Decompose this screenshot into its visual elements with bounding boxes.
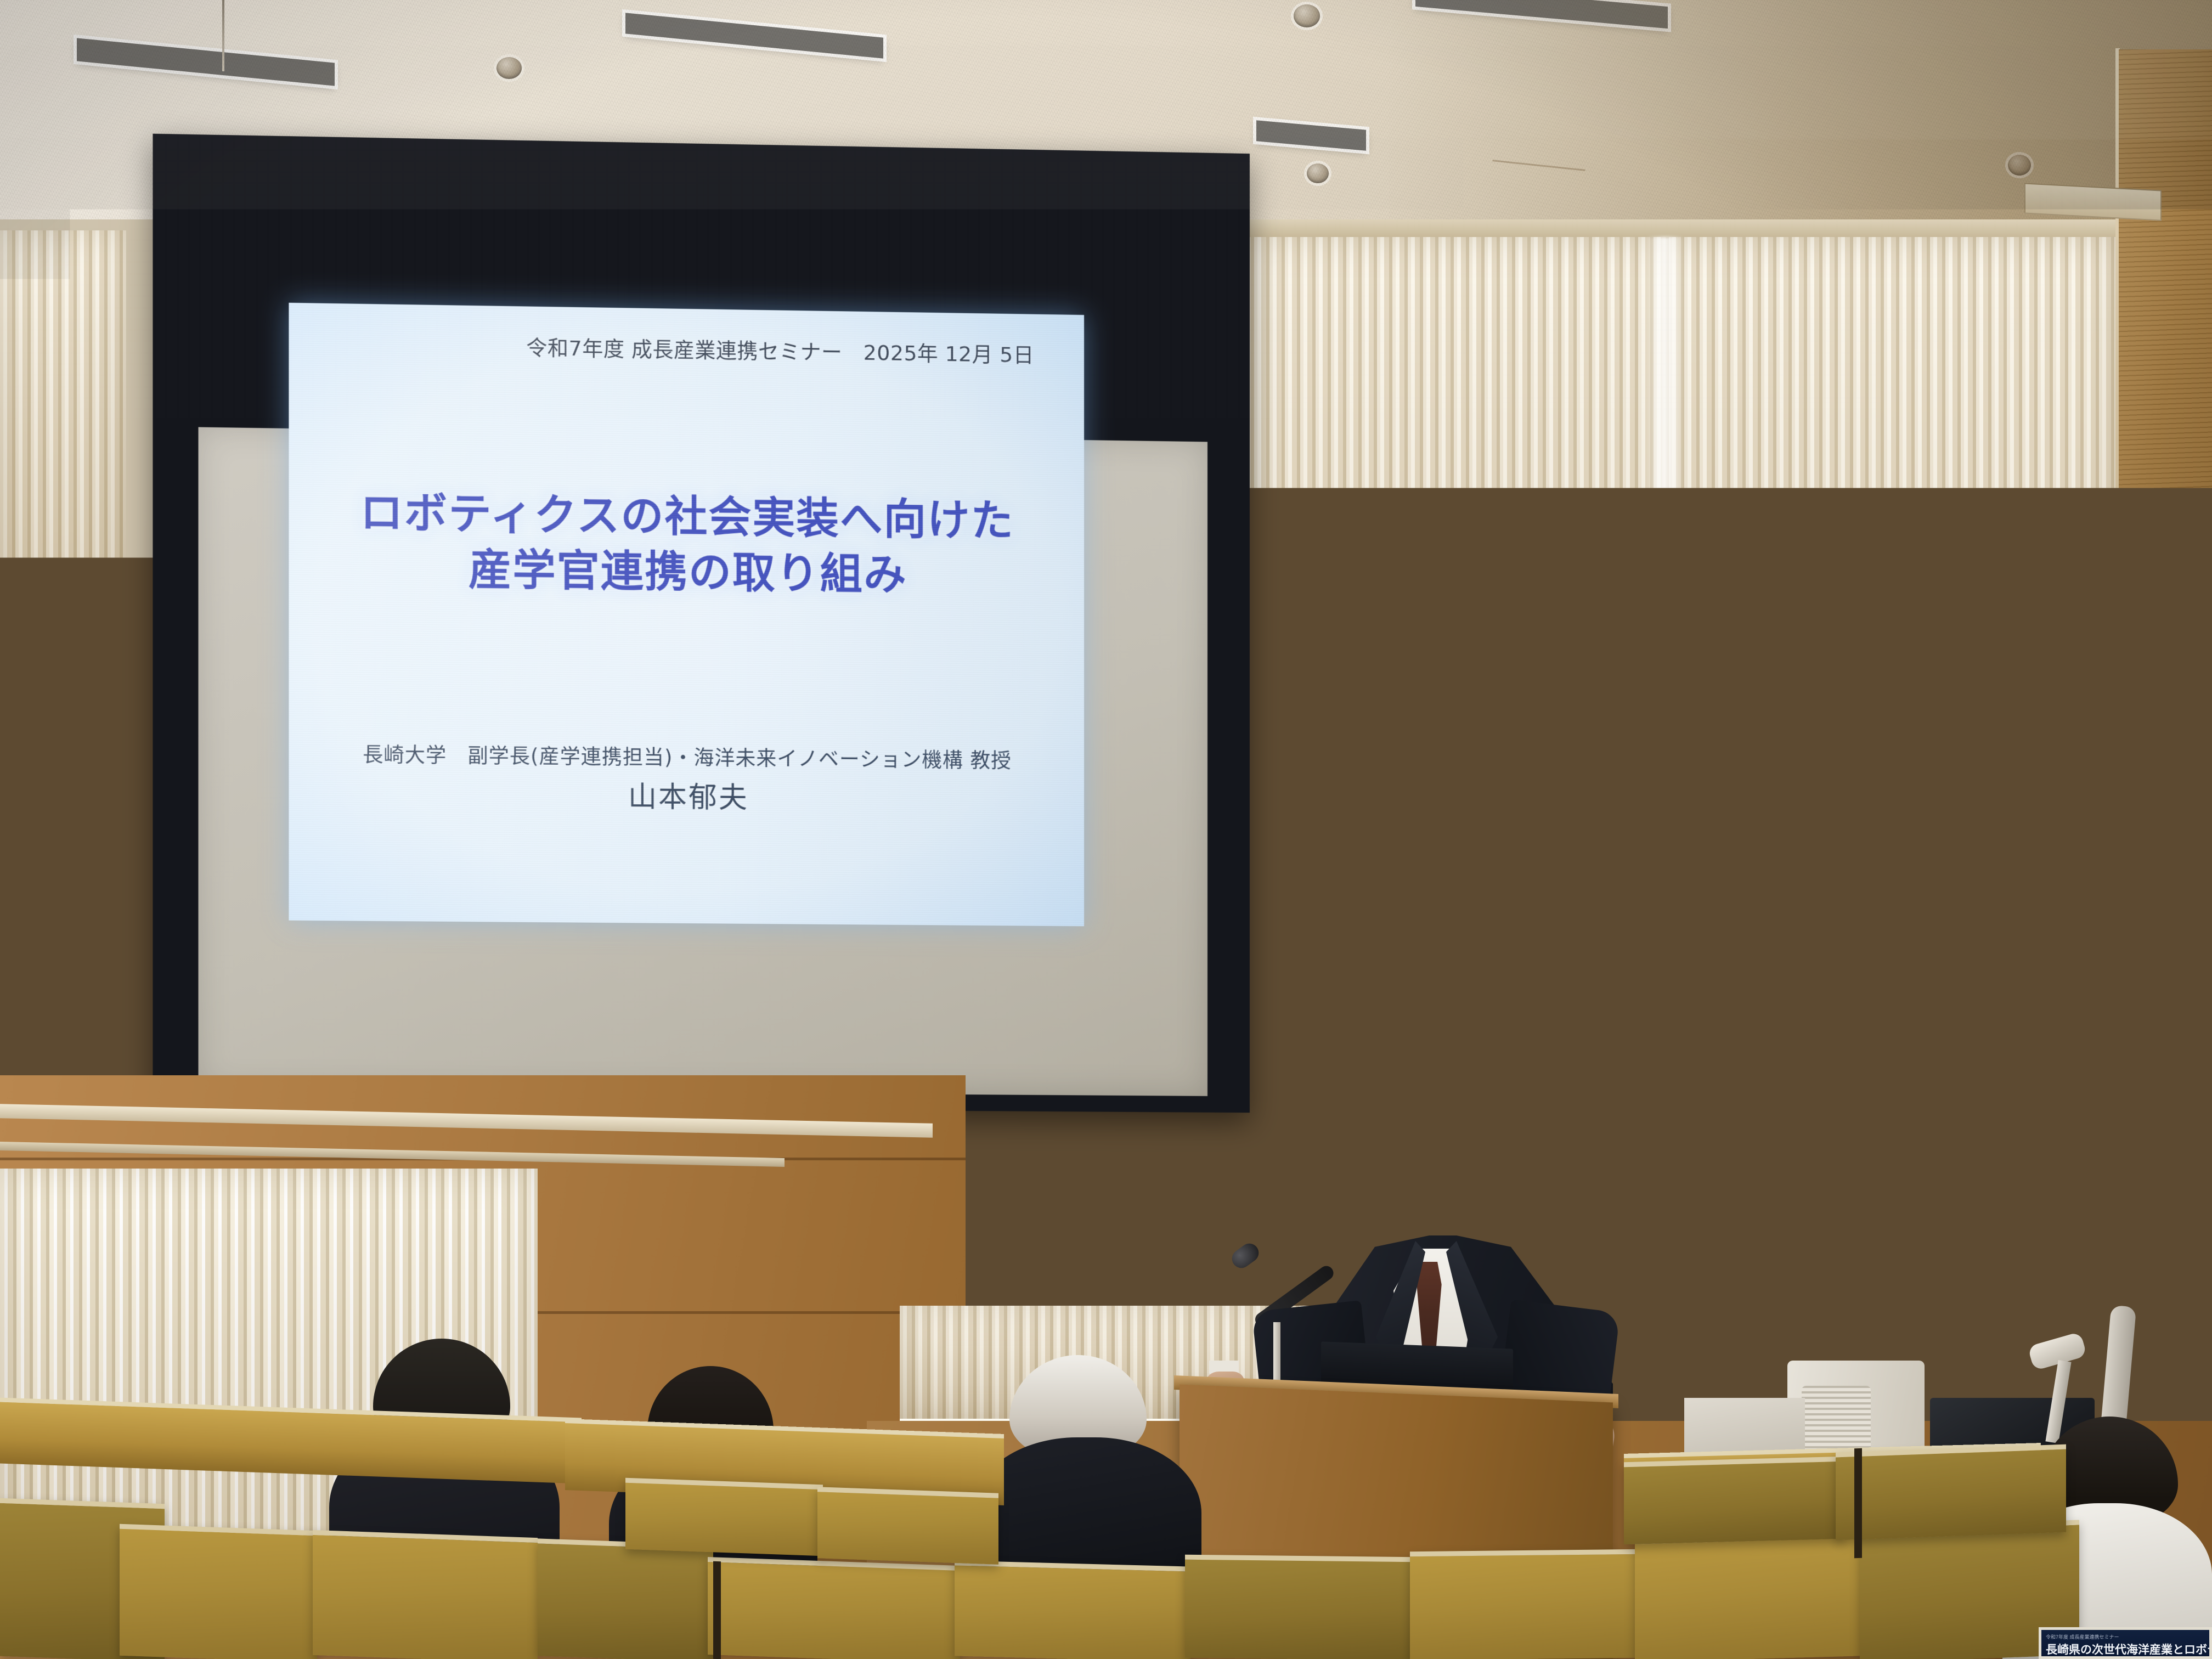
- ceiling-light-fixture: [1415, 0, 1668, 29]
- auditorium-seat[interactable]: [1410, 1549, 1640, 1659]
- auditorium-seat[interactable]: [538, 1538, 713, 1659]
- auditorium-seat[interactable]: [1635, 1533, 1865, 1659]
- poster-title: 長崎県の次世代海洋産業とロボティクス: [2046, 1641, 2207, 1657]
- glasses-icon: [1386, 1178, 1480, 1201]
- projected-slide: 令和7年度 成長産業連携セミナー 2025年 12月 5日 ロボティクスの社会実…: [289, 303, 1084, 926]
- auditorium-seat[interactable]: [817, 1487, 998, 1565]
- auditorium-seat[interactable]: [1836, 1444, 2066, 1541]
- ceiling-speaker-icon: [1294, 4, 1320, 27]
- auditorium-seat[interactable]: [1185, 1555, 1415, 1659]
- auditorium-seat[interactable]: [625, 1478, 823, 1556]
- auditorium-seat[interactable]: [955, 1560, 1190, 1659]
- ceiling-speaker-icon: [1307, 163, 1329, 183]
- slide-header-text: 令和7年度 成長産業連携セミナー 2025年 12月 5日: [289, 327, 1034, 368]
- ceiling-speaker-icon: [2008, 155, 2031, 176]
- poster-subtitle: 令和7年度 成長産業連携セミナー: [2046, 1633, 2207, 1640]
- slide-title: ロボティクスの社会実装へ向けた 産学官連携の取り組み: [289, 485, 1084, 606]
- seat-divider: [713, 1561, 721, 1659]
- hanging-wire: [222, 0, 224, 71]
- lecture-hall-photo: 令和7年度 成長産業連携セミナー 2025年 12月 5日 ロボティクスの社会実…: [0, 0, 2212, 1659]
- window-light-glow: [1646, 237, 1684, 1082]
- hanging-wire: [1492, 160, 1585, 171]
- auditorium-seat[interactable]: [120, 1524, 317, 1659]
- ceiling-light-fixture: [625, 13, 883, 58]
- ceiling-light-fixture: [1256, 120, 1366, 150]
- slide-affiliation: 長崎大学 副学長(産学連携担当)・海洋未来イノベーション機構 教授: [289, 737, 1084, 775]
- vertical-blinds-upper-left[interactable]: [0, 230, 126, 664]
- slide-title-line-2: 産学官連携の取り組み: [289, 540, 1084, 606]
- ceiling-speaker-icon: [496, 57, 522, 79]
- auditorium-seat[interactable]: [1624, 1457, 1843, 1544]
- auditorium-seat[interactable]: [313, 1530, 538, 1659]
- seat-divider: [1854, 1448, 1862, 1558]
- small-poster: 令和7年度 成長産業連携セミナー 長崎県の次世代海洋産業とロボティクス: [2039, 1627, 2212, 1659]
- slide-speaker-name: 山本郁夫: [289, 770, 1084, 819]
- ceiling-light-fixture: [77, 38, 335, 86]
- slide-title-line-1: ロボティクスの社会実装へ向けた: [289, 485, 1084, 551]
- auditorium-seat[interactable]: [708, 1557, 960, 1659]
